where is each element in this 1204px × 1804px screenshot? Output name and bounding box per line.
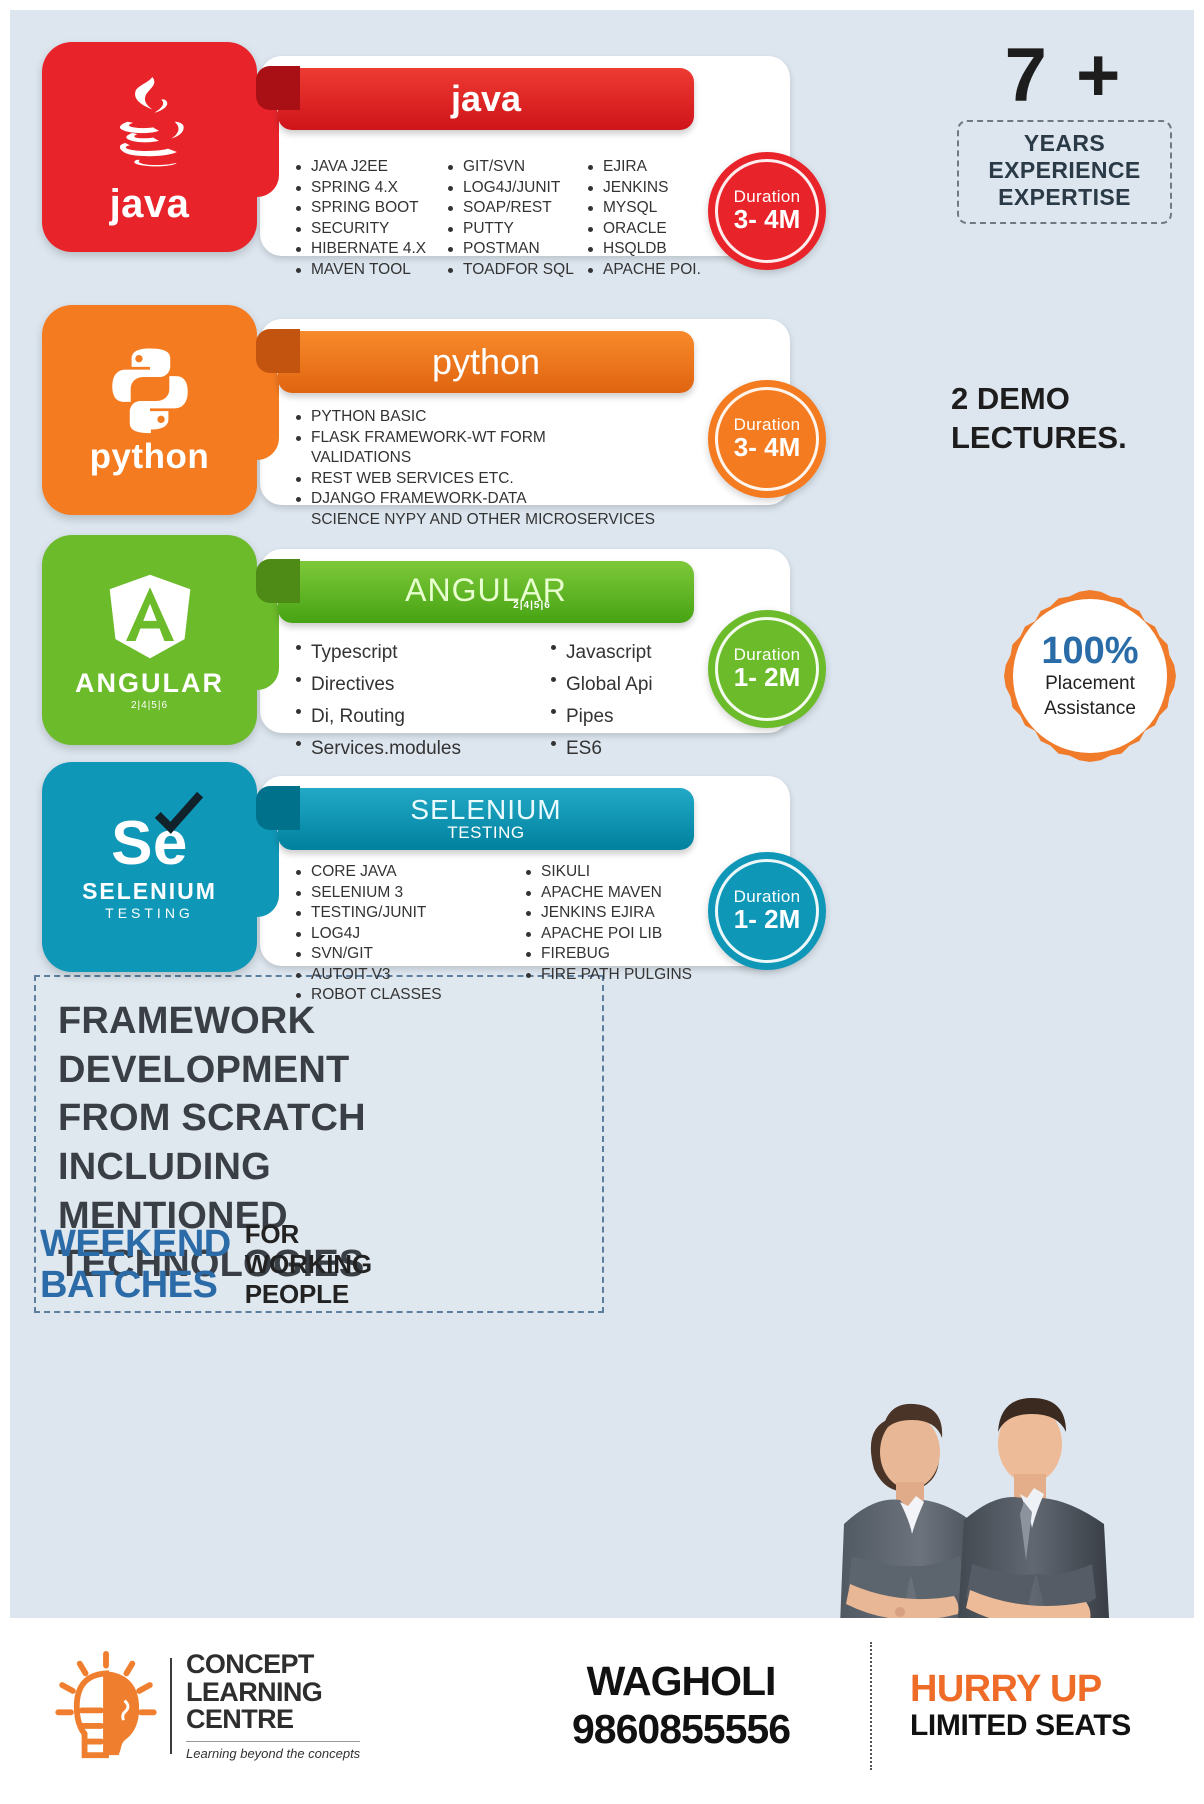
brand-text: CONCEPT LEARNING CENTRE Learning beyond … — [186, 1651, 360, 1761]
experience-line-2: EXPERIENCE — [965, 157, 1164, 184]
list-item: PUTTY — [447, 219, 587, 240]
logo-word-angular: ANGULAR — [75, 668, 224, 699]
list-item: Di, Routing — [295, 701, 550, 733]
course-list-col-2: Javascript Global Api Pipes ES6 — [550, 637, 730, 765]
course-list-python: PYTHON BASIC FLASK FRAMEWORK-WT FORM VAL… — [295, 407, 775, 530]
logo-word-python: python — [90, 437, 210, 477]
course-list-selenium: CORE JAVA SELENIUM 3 TESTING/JUNIT LOG4J… — [295, 862, 725, 1006]
lightbulb-head-icon — [52, 1650, 160, 1762]
weekend-word-2: BATCHES — [40, 1265, 231, 1306]
course-list-col-2: SIKULI APACHE MAVEN JENKINS EJIRA APACHE… — [525, 862, 725, 1006]
brand-tagline: Learning beyond the concepts — [186, 1741, 360, 1761]
course-title-java: java — [451, 81, 521, 117]
list-item: SVN/GIT — [295, 944, 525, 965]
city-name: WAGHOLI — [516, 1658, 846, 1705]
list-item: JENKINS — [587, 178, 717, 199]
framework-line-1: FRAMEWORK DEVELOPMENT — [58, 997, 586, 1094]
list-item: SELENIUM 3 — [295, 883, 525, 904]
course-ribbon-python: python — [278, 331, 694, 393]
list-item: ROBOT CLASSES — [295, 985, 525, 1006]
poster: java java JAVA J2EE SPRING 4.X SPRING BO… — [0, 0, 1204, 1804]
placement-line-2: Assistance — [1044, 698, 1136, 720]
logo-tile-java: java — [42, 42, 257, 252]
list-item: SIKULI — [525, 862, 725, 883]
logo-tile-tail — [234, 590, 279, 690]
brand-logo-area: CONCEPT LEARNING CENTRE Learning beyond … — [52, 1650, 482, 1762]
list-item: JENKINS EJIRA — [525, 903, 725, 924]
ribbon-fold — [256, 329, 300, 373]
list-item: PYTHON BASIC — [295, 407, 775, 428]
demo-line-1: 2 DEMO — [951, 380, 1186, 419]
list-item-continuation: SCIENCE NYPY AND OTHER MICROSERVICES — [295, 510, 775, 531]
limited-seats-text: LIMITED SEATS — [910, 1709, 1131, 1742]
weekend-for-1: FOR — [245, 1220, 372, 1250]
course-list-col-1: JAVA J2EE SPRING 4.X SPRING BOOT SECURIT… — [295, 157, 447, 280]
list-item: APACHE POI LIB — [525, 924, 725, 945]
duration-label: Duration — [734, 416, 801, 433]
course-row-selenium: Se SELENIUM TESTING SELENIUM TESTING COR… — [10, 752, 1194, 982]
demo-lectures-widget: 2 DEMO LECTURES. — [951, 380, 1186, 458]
list-item: FIRE PATH PULGINS — [525, 965, 725, 986]
weekend-for-3: PEOPLE — [245, 1280, 372, 1310]
list-item: POSTMAN — [447, 239, 587, 260]
list-item: Global Api — [550, 669, 730, 701]
logo-tile-tail — [234, 817, 279, 917]
phone-number: 9860855556 — [516, 1705, 846, 1754]
logo-version-angular: 2|4|5|6 — [131, 700, 168, 711]
list-item: HIBERNATE 4.X — [295, 239, 447, 260]
location-contact: WAGHOLI 9860855556 — [516, 1658, 846, 1754]
list-item: TOADFOR SQL — [447, 260, 587, 281]
duration-label: Duration — [734, 188, 801, 205]
duration-value: 1- 2M — [734, 663, 800, 692]
list-item: AUTOIT V3 — [295, 965, 525, 986]
course-title-python: python — [432, 344, 540, 380]
list-item: TESTING/JUNIT — [295, 903, 525, 924]
brand-line-2: LEARNING — [186, 1679, 360, 1707]
java-icon — [90, 68, 210, 180]
list-item: SPRING BOOT — [295, 198, 447, 219]
list-item: Typescript — [295, 637, 550, 669]
logo-tile-tail — [234, 360, 279, 460]
experience-line-3: EXPERTISE — [965, 184, 1164, 211]
list-item: DJANGO FRAMEWORK-DATA — [295, 489, 775, 510]
experience-number: 7 + — [957, 40, 1172, 112]
list-item: APACHE MAVEN — [525, 883, 725, 904]
checkmark-icon — [150, 791, 206, 837]
list-item: GIT/SVN — [447, 157, 587, 178]
list-item: Directives — [295, 669, 550, 701]
logo-sub-selenium: SELENIUM — [82, 878, 217, 905]
poster-inner: java java JAVA J2EE SPRING 4.X SPRING BO… — [10, 10, 1194, 1794]
logo-word-java: java — [110, 182, 190, 227]
logo-tile-tail — [234, 97, 279, 197]
course-subtitle-selenium: TESTING — [447, 824, 524, 843]
experience-line-1: YEARS — [965, 130, 1164, 157]
list-item: ES6 — [550, 733, 730, 765]
brand-line-1: CONCEPT — [186, 1651, 360, 1679]
list-item: LOG4J — [295, 924, 525, 945]
weekend-batches-widget: WEEKEND BATCHES FOR WORKING PEOPLE — [40, 1220, 372, 1310]
duration-value: 1- 2M — [734, 905, 800, 934]
placement-badge: 100% Placement Assistance — [1004, 590, 1176, 762]
list-item: Pipes — [550, 701, 730, 733]
duration-badge-python: Duration 3- 4M — [708, 380, 826, 498]
placement-line-1: Placement — [1045, 673, 1135, 695]
course-title-selenium: SELENIUM — [410, 796, 561, 824]
ribbon-fold — [256, 559, 300, 603]
list-item: FLASK FRAMEWORK-WT FORM — [295, 428, 775, 449]
logo-sub2-selenium: TESTING — [105, 905, 194, 921]
list-item: MAVEN TOOL — [295, 260, 447, 281]
list-item: ORACLE — [587, 219, 717, 240]
duration-label: Duration — [734, 646, 801, 663]
python-icon — [104, 343, 196, 435]
duration-badge-java: Duration 3- 4M — [708, 152, 826, 270]
placement-percent: 100% — [1041, 632, 1138, 670]
course-ribbon-angular: ANGULAR 2|4|5|6 — [278, 561, 694, 623]
logo-divider — [170, 1658, 172, 1754]
logo-tile-selenium: Se SELENIUM TESTING — [42, 762, 257, 972]
footer-divider — [870, 1642, 872, 1770]
weekend-word-1: WEEKEND — [40, 1224, 231, 1265]
course-list-java: JAVA J2EE SPRING 4.X SPRING BOOT SECURIT… — [295, 157, 717, 280]
course-ribbon-selenium: SELENIUM TESTING — [278, 788, 694, 850]
course-list-col-1: CORE JAVA SELENIUM 3 TESTING/JUNIT LOG4J… — [295, 862, 525, 1006]
brand-line-3: CENTRE — [186, 1706, 360, 1734]
weekend-for-2: WORKING — [245, 1250, 372, 1280]
course-list-col-1: PYTHON BASIC FLASK FRAMEWORK-WT FORM VAL… — [295, 407, 775, 530]
list-item: FIREBUG — [525, 944, 725, 965]
list-item: APACHE POI. — [587, 260, 717, 281]
demo-line-2: LECTURES. — [951, 419, 1186, 458]
logo-tile-angular: ANGULAR 2|4|5|6 — [42, 535, 257, 745]
list-item: SOAP/REST — [447, 198, 587, 219]
course-list-angular: Typescript Directives Di, Routing Servic… — [295, 637, 730, 765]
list-item: JAVA J2EE — [295, 157, 447, 178]
experience-box: YEARS EXPERIENCE EXPERTISE — [957, 120, 1172, 223]
experience-widget: 7 + YEARS EXPERIENCE EXPERTISE — [957, 40, 1172, 224]
course-list-col-2: GIT/SVN LOG4J/JUNIT SOAP/REST PUTTY POST… — [447, 157, 587, 280]
footer: CONCEPT LEARNING CENTRE Learning beyond … — [10, 1618, 1194, 1794]
duration-badge-angular: Duration 1- 2M — [708, 610, 826, 728]
list-item: CORE JAVA — [295, 862, 525, 883]
list-item: HSQLDB — [587, 239, 717, 260]
placement-badge-face: 100% Placement Assistance — [1013, 599, 1167, 753]
course-list-col-3: EJIRA JENKINS MYSQL ORACLE HSQLDB APACHE… — [587, 157, 717, 280]
ribbon-fold — [256, 786, 300, 830]
duration-badge-selenium: Duration 1- 2M — [708, 852, 826, 970]
duration-value: 3- 4M — [734, 433, 800, 462]
angular-icon — [102, 570, 198, 666]
list-item: SECURITY — [295, 219, 447, 240]
course-list-col-1: Typescript Directives Di, Routing Servic… — [295, 637, 550, 765]
framework-line-2: FROM SCRATCH INCLUDING — [58, 1094, 586, 1191]
list-item: SPRING 4.X — [295, 178, 447, 199]
list-item: EJIRA — [587, 157, 717, 178]
list-item: REST WEB SERVICES ETC. — [295, 469, 775, 490]
logo-tile-python: python — [42, 305, 257, 515]
hurry-up-widget: HURRY UP LIMITED SEATS — [910, 1670, 1131, 1743]
list-item: Javascript — [550, 637, 730, 669]
list-item: LOG4J/JUNIT — [447, 178, 587, 199]
list-item: Services.modules — [295, 733, 550, 765]
list-item-continuation: VALIDATIONS — [295, 448, 775, 469]
course-ribbon-java: java — [278, 68, 694, 130]
course-version-angular: 2|4|5|6 — [513, 600, 551, 611]
ribbon-fold — [256, 66, 300, 110]
list-item: MYSQL — [587, 198, 717, 219]
duration-label: Duration — [734, 888, 801, 905]
hurry-up-text: HURRY UP — [910, 1670, 1131, 1710]
duration-value: 3- 4M — [734, 205, 800, 234]
